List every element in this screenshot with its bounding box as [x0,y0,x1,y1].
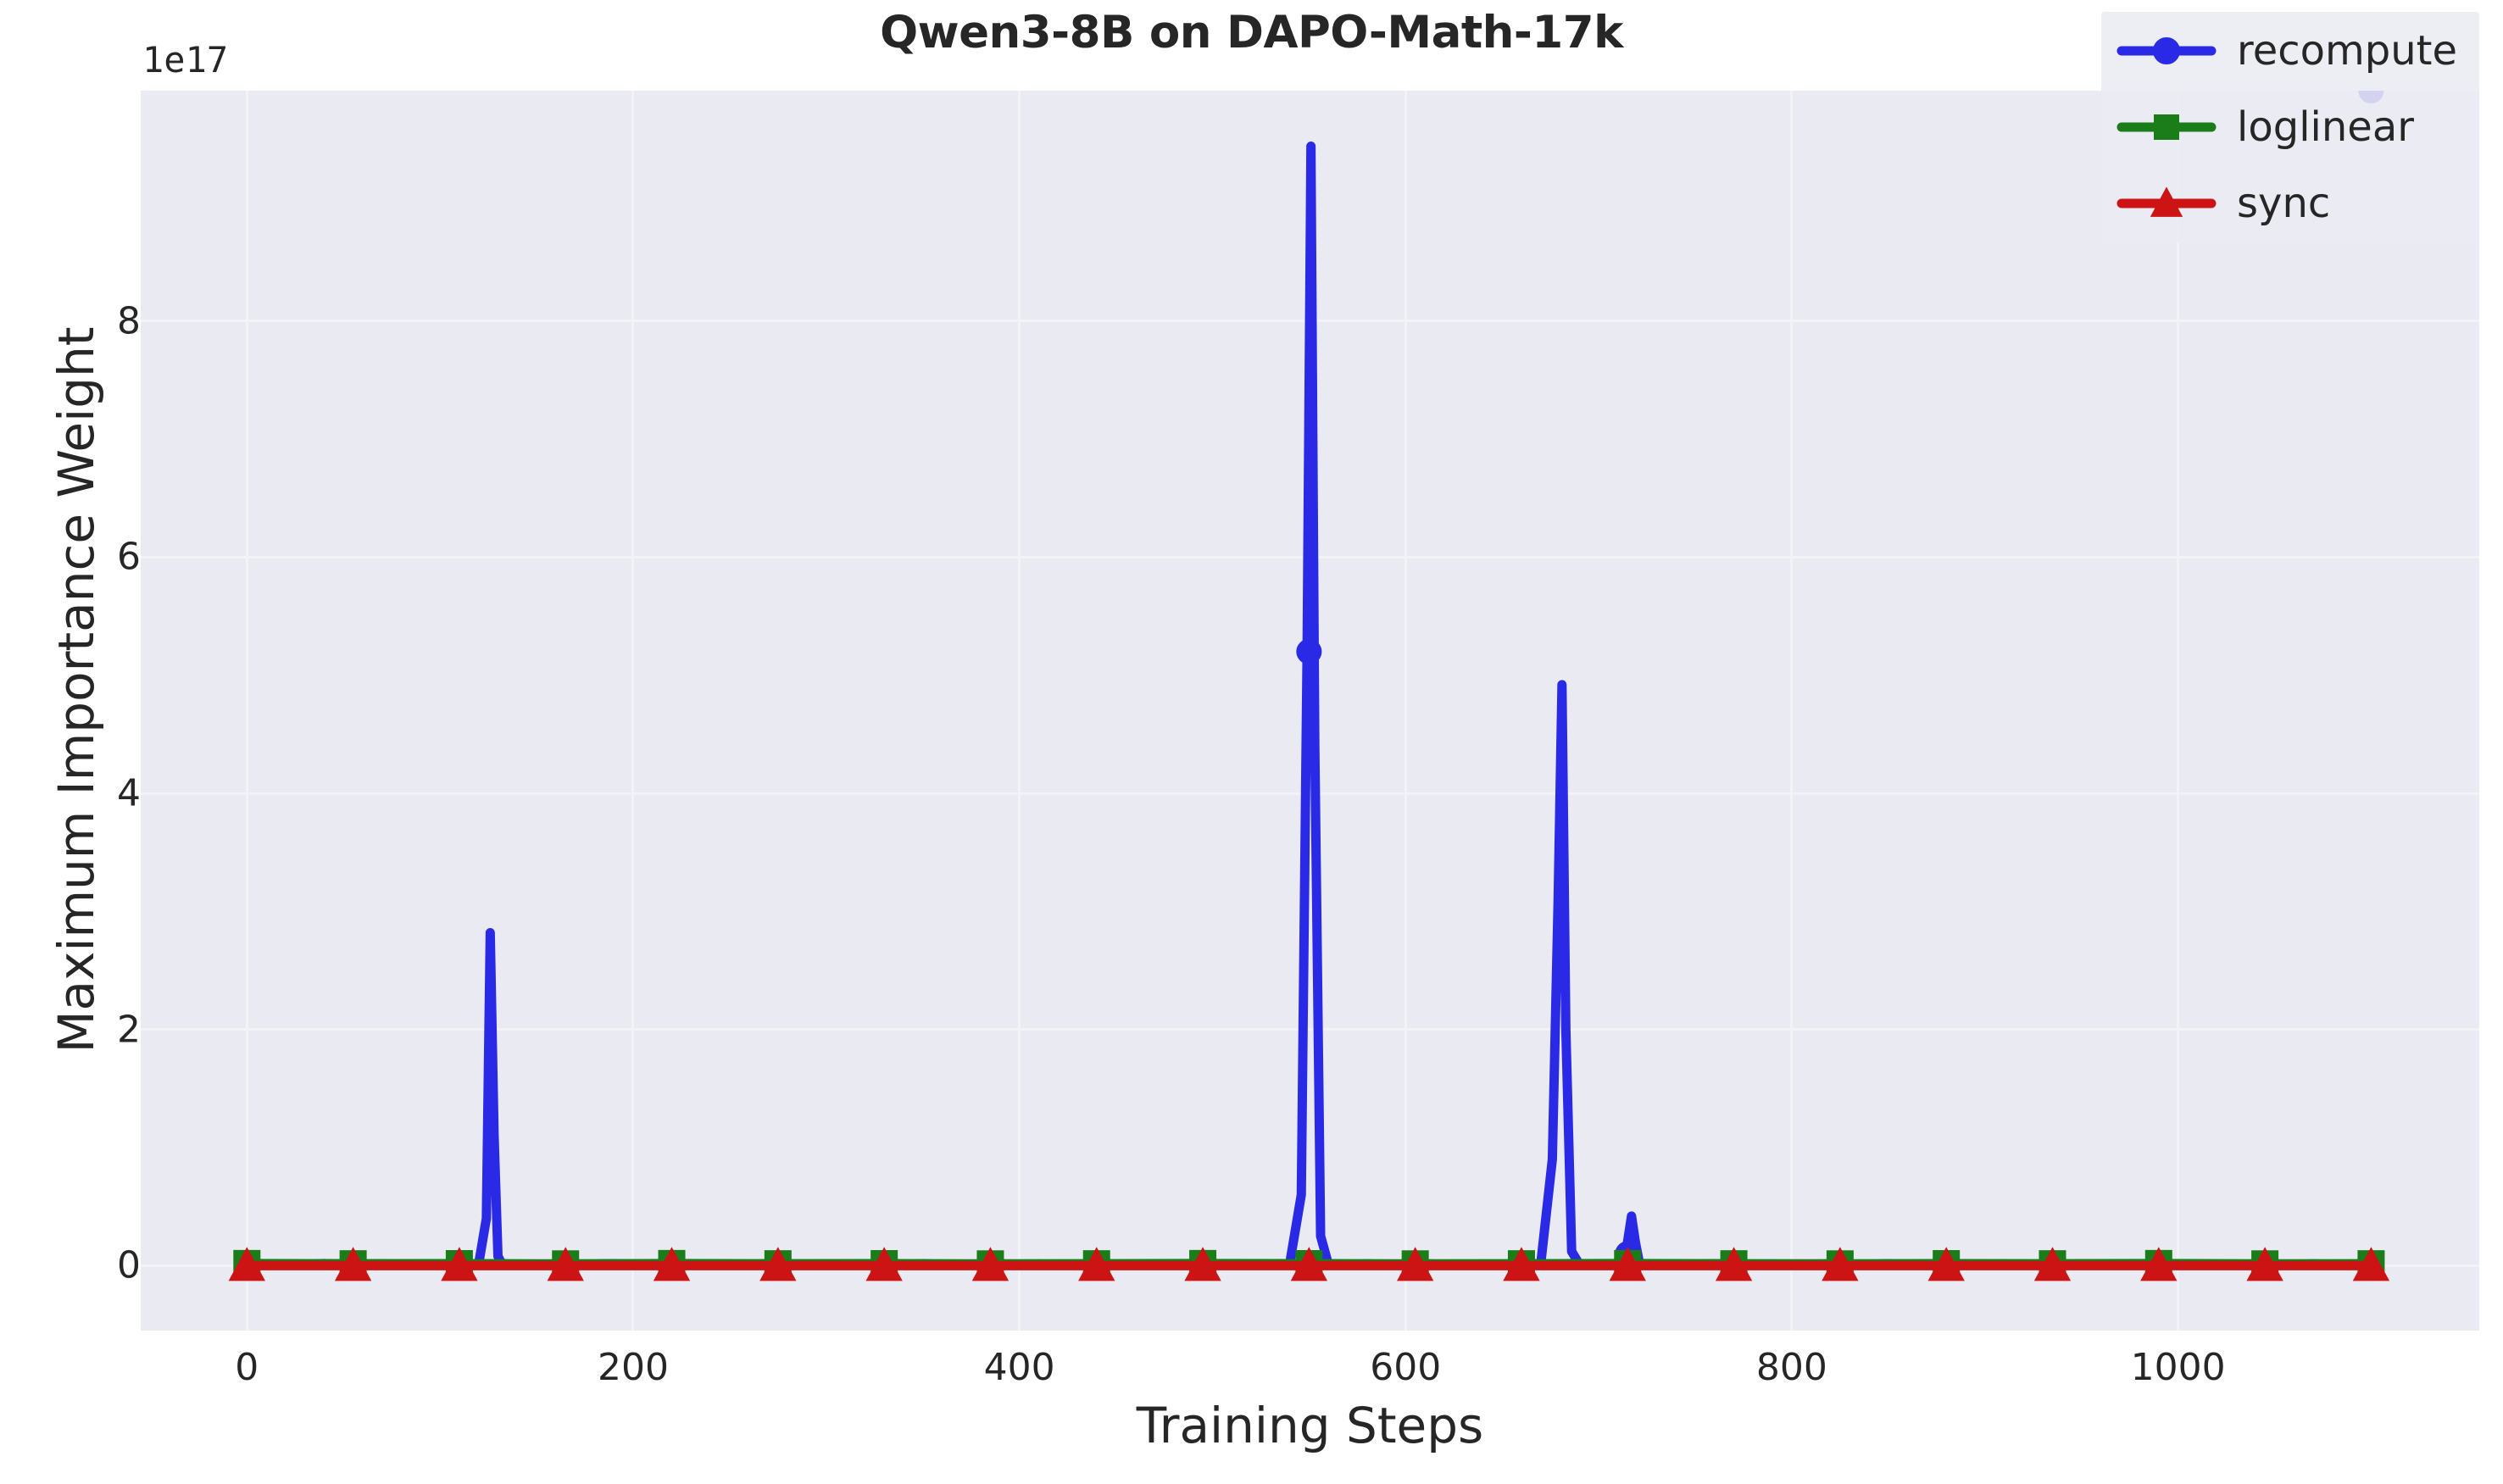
x-axis-label: Training Steps [141,1397,2479,1454]
plot-area [141,91,2479,1331]
square-marker [2155,115,2178,139]
chart-legend: recomputeloglinearsync [2101,12,2479,242]
y-tick-label: 4 [117,772,141,815]
legend-entry-recompute[interactable]: recompute [2116,27,2457,75]
chart-figure: Qwen3-8B on DAPO-Math-17k 1e17 Maximum I… [0,0,2503,1484]
x-tick-label: 600 [1370,1346,1441,1389]
legend-entry-loglinear[interactable]: loglinear [2116,103,2457,151]
triangle-icon [2116,181,2217,225]
legend-label: sync [2237,180,2330,227]
x-tick-label: 200 [598,1346,669,1389]
y-axis-label: Maximum Importance Weight [47,97,105,1283]
y-tick-label: 6 [117,536,141,579]
circle-marker [2154,38,2179,64]
y-tick-label: 8 [117,299,141,342]
legend-entry-sync[interactable]: sync [2116,180,2457,227]
y-tick-label: 0 [117,1244,141,1287]
circle-marker [1297,640,1321,664]
x-tick-label: 0 [235,1346,259,1389]
legend-label: recompute [2237,27,2457,75]
x-tick-label: 1000 [2131,1346,2226,1389]
x-tick-label: 400 [984,1346,1055,1389]
series-container [141,91,2479,1331]
legend-label: loglinear [2237,103,2414,151]
x-tick-label: 800 [1756,1346,1827,1389]
square-icon [2116,105,2217,149]
y-axis-offset-text: 1e17 [142,39,228,81]
y-tick-label: 2 [117,1008,141,1051]
series-line [247,146,2351,1264]
circle-icon [2116,29,2217,73]
series-recompute [235,91,2383,1276]
